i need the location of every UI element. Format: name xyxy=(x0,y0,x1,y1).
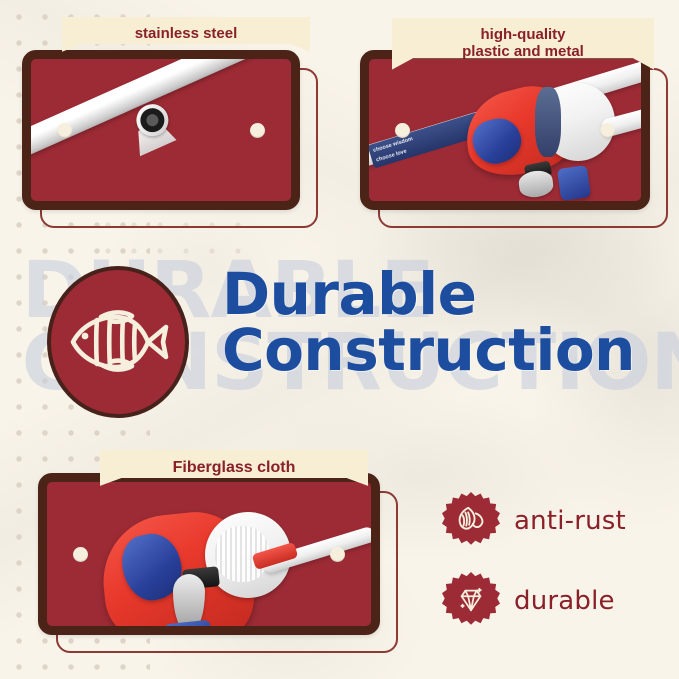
feature-panel-fiberglass-cloth xyxy=(38,473,380,635)
leaf-drops-icon xyxy=(456,505,486,535)
reel-band xyxy=(535,87,561,157)
screw-hole-icon xyxy=(395,123,410,138)
fish-icon xyxy=(66,305,170,379)
panel-frame xyxy=(38,473,380,635)
starburst-badge xyxy=(442,492,500,550)
feature-panel-stainless-steel xyxy=(22,50,300,210)
feature-label: anti-rust xyxy=(514,506,626,536)
fish-icon-badge xyxy=(47,266,189,418)
feature-badge-durable: durable xyxy=(442,572,615,630)
reel-release-tab xyxy=(557,165,591,201)
reel-trigger xyxy=(173,574,205,626)
feature-label: durable xyxy=(514,586,615,616)
feature-panel-plastic-metal: choose wisdom choose love xyxy=(360,50,650,210)
screw-hole-icon xyxy=(330,547,345,562)
panel-frame: choose wisdom choose love xyxy=(360,50,650,210)
screw-hole-icon xyxy=(600,123,615,138)
ribbon-label: high-quality plastic and metal xyxy=(462,26,584,60)
feature-badge-anti-rust: anti-rust xyxy=(442,492,626,550)
ribbon-label: stainless steel xyxy=(135,25,238,42)
fishing-reel-side-photo xyxy=(47,482,371,626)
screw-hole-icon xyxy=(73,547,88,562)
page-title: Durable Construction xyxy=(222,266,674,379)
ribbon-label: Fiberglass cloth xyxy=(173,459,296,476)
screw-hole-icon xyxy=(57,123,72,138)
fish-eye-icon xyxy=(82,333,89,340)
screw-hole-icon xyxy=(250,123,265,138)
center-headline-block: DURABLE CONSTRUCTION Durable Constructio… xyxy=(0,248,679,444)
panel-frame xyxy=(22,50,300,210)
starburst-badge xyxy=(442,572,500,630)
diamond-icon xyxy=(456,585,486,615)
